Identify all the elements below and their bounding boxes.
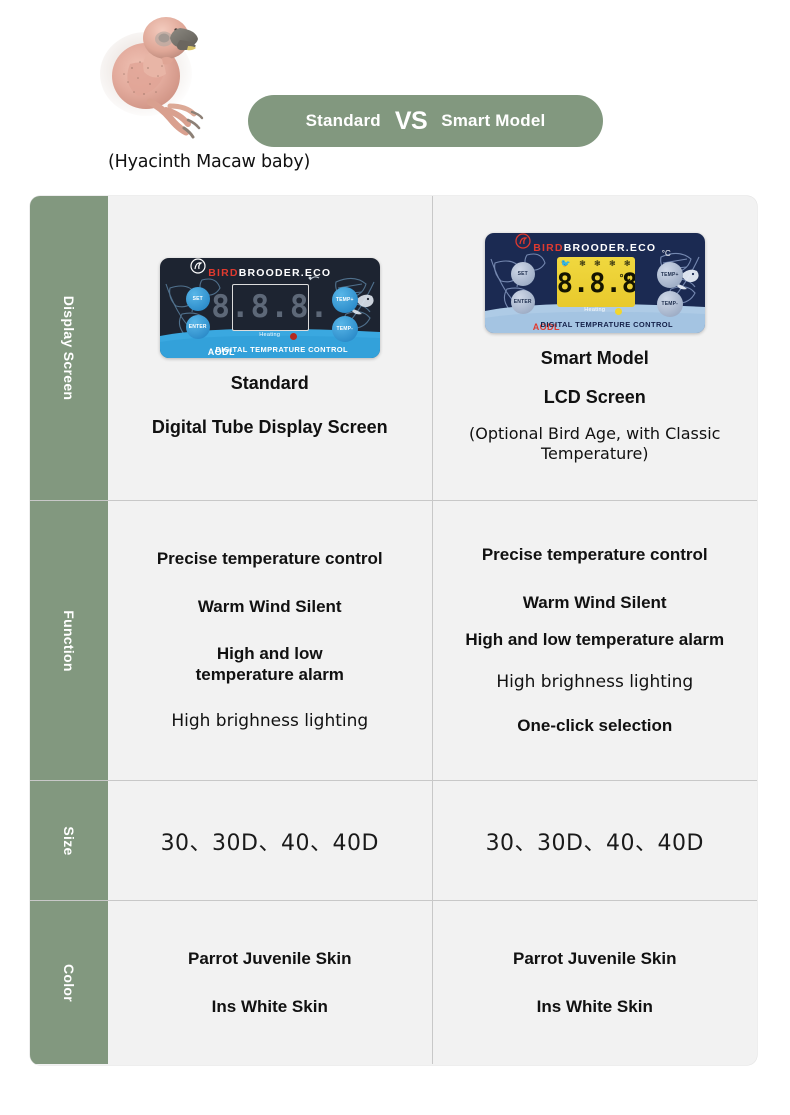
aodl-logo-icon	[190, 258, 206, 274]
bird-figure: (Hyacinth Macaw baby)	[78, 6, 258, 166]
cell-line-1: Parrot Juvenile Skin	[188, 948, 351, 969]
cell-size-smart: 30、30D、40、40D	[433, 781, 758, 900]
device-standard-controller: BIRDBROODER.ECO SET ENTER TEMP+ TEMP- 8.…	[160, 258, 380, 358]
cell-line-2: Digital Tube Display Screen	[152, 416, 388, 439]
heating-indicator-led	[290, 333, 297, 340]
brand-rest-text: BROODER.ECO	[239, 267, 332, 279]
feather-icon-2: ❃	[594, 259, 601, 268]
cell-line-2: Warm Wind Silent	[198, 596, 342, 617]
hyacinth-macaw-chick-photo	[88, 6, 238, 146]
cell-line-1: Precise temperature control	[482, 544, 708, 565]
comparison-table: Display Screen	[30, 196, 757, 1065]
cell-line-2: Warm Wind Silent	[523, 592, 667, 613]
row-header-function: Function	[30, 501, 108, 780]
bird-caption: (Hyacinth Macaw baby)	[108, 152, 310, 172]
device-temp-down-button[interactable]: TEMP-	[332, 316, 358, 342]
brand-rest-text: BROODER.ECO	[564, 242, 657, 254]
cell-line-1: Parrot Juvenile Skin	[513, 948, 676, 969]
lcd-display: 🐦 ❃ ❃ ❃ ❃ 8.8.8. °C	[557, 257, 635, 307]
row-header-label: Color	[61, 963, 77, 1001]
device-smart-controller: BIRDBROODER.ECO SET ENTER TEMP+ TEMP- °C…	[485, 233, 705, 333]
cell-line-4: temperature alarm	[196, 664, 344, 685]
bird-age-icon: 🐦	[561, 259, 571, 268]
cell-function-smart: Precise temperature control Warm Wind Si…	[433, 501, 758, 780]
row-header-label: Function	[61, 610, 77, 672]
cell-function-standard: Precise temperature control Warm Wind Si…	[108, 501, 433, 780]
heating-label: Heating	[485, 307, 705, 313]
bird-illustration	[88, 6, 238, 146]
table-row-size: Size 30、30D、40、40D 30、30D、40、40D	[30, 780, 757, 900]
cell-line-5: One-click selection	[517, 715, 672, 736]
cell-size-standard: 30、30D、40、40D	[108, 781, 433, 900]
table-row-display-screen: Display Screen	[30, 196, 757, 500]
aodl-logo-icon	[515, 233, 531, 249]
table-row-function: Function Precise temperature control War…	[30, 500, 757, 780]
banner-left-label: Standard	[306, 111, 381, 131]
cell-line-1: Smart Model	[541, 347, 649, 370]
cell-line-1: Precise temperature control	[157, 548, 383, 569]
lcd-display-unit: °C	[620, 273, 631, 284]
banner-vs-label: VS	[395, 107, 427, 136]
heating-label: Heating	[160, 332, 380, 338]
device-temp-up-button[interactable]: TEMP+	[332, 287, 358, 313]
cell-line-2: LCD Screen	[544, 386, 646, 409]
lcd-icon-strip: 🐦 ❃ ❃ ❃ ❃	[557, 259, 635, 268]
row-header-size: Size	[30, 781, 108, 900]
banner-right-label: Smart Model	[441, 111, 545, 131]
row-header-label: Display Screen	[61, 296, 77, 401]
brand-bird-text: BIRD	[208, 267, 238, 279]
cell-line-1: 30、30D、40、40D	[486, 825, 704, 857]
device-set-button[interactable]: SET	[186, 287, 210, 311]
cell-color-smart: Parrot Juvenile Skin Ins White Skin	[433, 901, 758, 1064]
cell-line-4: High brighness lighting	[496, 672, 693, 693]
cell-line-3: High and low temperature alarm	[465, 629, 724, 650]
display-value: 8.8.8.	[211, 292, 329, 323]
device-set-button[interactable]: SET	[511, 262, 535, 286]
feather-icon-1: ❃	[579, 259, 586, 268]
cell-line-5: High brighness lighting	[171, 711, 368, 732]
cell-display-smart: BIRDBROODER.ECO SET ENTER TEMP+ TEMP- °C…	[433, 196, 758, 500]
cell-line-3: (Optional Bird Age, with Classic Tempera…	[450, 424, 740, 462]
row-header-label: Size	[61, 826, 77, 855]
feather-icon-3: ❃	[609, 259, 616, 268]
cell-display-standard: BIRDBROODER.ECO SET ENTER TEMP+ TEMP- 8.…	[108, 196, 433, 500]
feather-icon-4: ❃	[624, 259, 631, 268]
row-header-color: Color	[30, 901, 108, 1064]
page-header: (Hyacinth Macaw baby) Standard VS Smart …	[0, 0, 790, 180]
cell-line-3: High and low	[217, 643, 323, 664]
digital-tube-display: 8.8.8.	[232, 284, 309, 331]
row-header-display-screen: Display Screen	[30, 196, 108, 500]
device-temp-down-button[interactable]: TEMP-	[657, 291, 683, 317]
comparison-banner: Standard VS Smart Model	[248, 95, 603, 147]
cell-color-standard: Parrot Juvenile Skin Ins White Skin	[108, 901, 433, 1064]
cell-line-2: Ins White Skin	[212, 996, 328, 1017]
brand-bird-text: BIRD	[533, 242, 563, 254]
table-row-color: Color Parrot Juvenile Skin Ins White Ski…	[30, 900, 757, 1064]
device-footer-text: DIGITAL TEMPRATURE CONTROL	[485, 320, 705, 329]
degree-mark: °C	[662, 249, 671, 258]
device-temp-up-button[interactable]: TEMP+	[657, 262, 683, 288]
cell-line-1: Standard	[231, 372, 309, 395]
cell-line-2: Ins White Skin	[537, 996, 653, 1017]
device-footer-text: DIGITAL TEMPRATURE CONTROL	[160, 345, 380, 354]
cell-line-1: 30、30D、40、40D	[161, 825, 379, 857]
